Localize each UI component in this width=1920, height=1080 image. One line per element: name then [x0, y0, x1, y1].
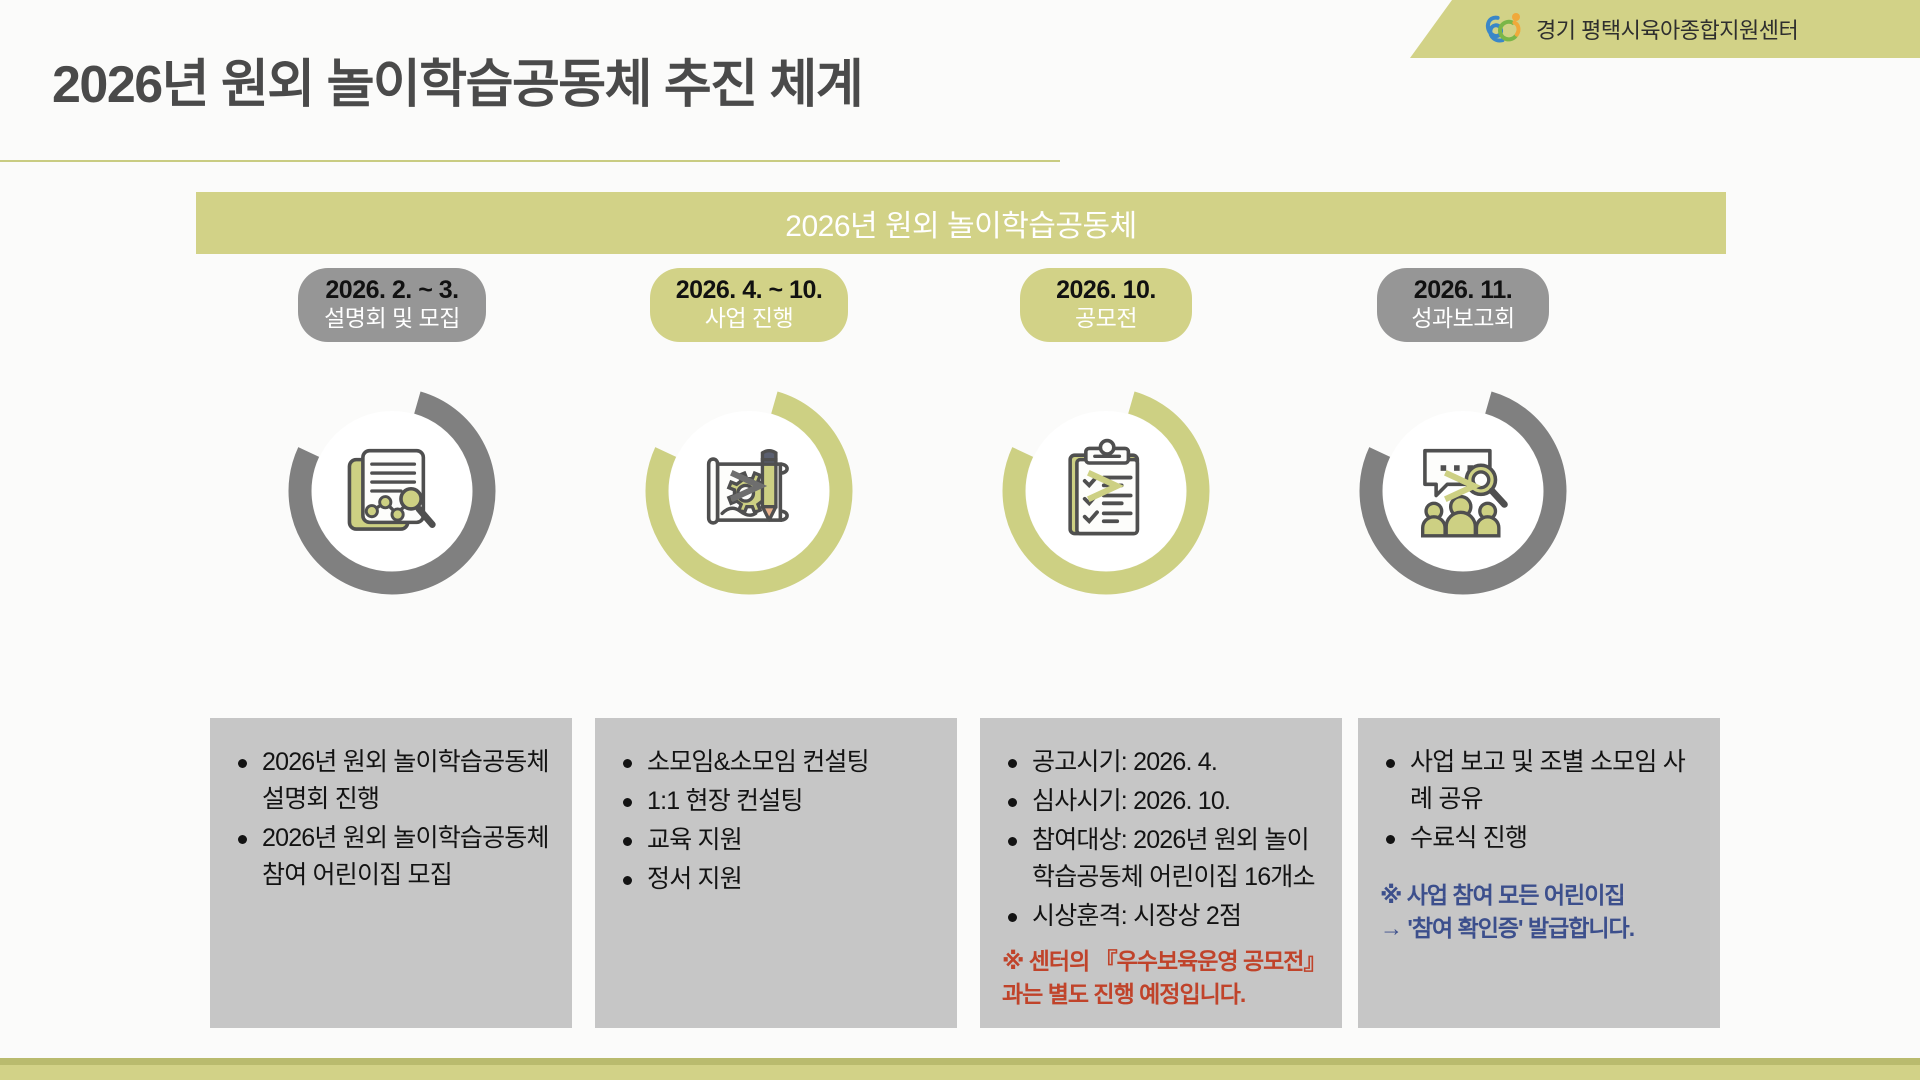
chevron-right-arrow-icon-3: [1440, 464, 1506, 508]
detail-list-3: 공고시기: 2026. 4. 심사시기: 2026. 10. 참여대상: 202…: [1002, 744, 1320, 935]
stage-column-4: 2026. 11. 성과보고회: [1293, 268, 1633, 604]
stage-column-3: 2026. 10. 공모전: [936, 268, 1276, 604]
stage-date-1: 2026. 2. ~ 3.: [324, 276, 460, 305]
chevron-right-arrow-icon-2: [1083, 464, 1149, 508]
detail-box-3: 공고시기: 2026. 4. 심사시기: 2026. 10. 참여대상: 202…: [980, 718, 1342, 1028]
detail-note-3: ※ 센터의 『우수보육운영 공모전』과는 별도 진행 예정입니다.: [1002, 945, 1320, 1010]
detail-list-4: 사업 보고 및 조별 소모임 사례 공유 수료식 진행: [1380, 744, 1698, 857]
list-item: 시상훈격: 시장상 2점: [1002, 898, 1320, 935]
stage-pill-2: 2026. 4. ~ 10. 사업 진행: [650, 268, 849, 342]
footer-bar: [0, 1058, 1920, 1080]
list-item: 심사시기: 2026. 10.: [1002, 783, 1320, 820]
stage-label-4: 성과보고회: [1403, 305, 1523, 333]
detail-box-row: 2026년 원외 놀이학습공동체 설명회 진행 2026년 원외 놀이학습공동체…: [210, 718, 1720, 1028]
list-item: 정서 지원: [617, 861, 935, 898]
stage-pill-1: 2026. 2. ~ 3. 설명회 및 모집: [298, 268, 486, 342]
program-banner: 2026년 원외 놀이학습공동체: [196, 192, 1726, 254]
stage-date-3: 2026. 10.: [1046, 276, 1166, 305]
detail-box-1: 2026년 원외 놀이학습공동체 설명회 진행 2026년 원외 놀이학습공동체…: [210, 718, 572, 1028]
stage-pill-3: 2026. 10. 공모전: [1020, 268, 1192, 342]
detail-note-4: ※ 사업 참여 모든 어린이집→ '참여 확인증' 발급합니다.: [1380, 879, 1698, 944]
detail-list-1: 2026년 원외 놀이학습공동체 설명회 진행 2026년 원외 놀이학습공동체…: [232, 744, 550, 894]
detail-box-2: 소모임&소모임 컨설팅 1:1 현장 컨설팅 교육 지원 정서 지원: [595, 718, 957, 1028]
stage-label-3: 공모전: [1046, 305, 1166, 333]
title-divider: [0, 160, 1060, 162]
list-item: 사업 보고 및 조별 소모임 사례 공유: [1380, 744, 1698, 818]
stage-date-4: 2026. 11.: [1403, 276, 1523, 305]
document-chart-magnifier-icon: [336, 435, 448, 547]
slide-root: 경기 평택시육아종합지원센터 2026년 원외 놀이학습공동체 추진 체계 20…: [0, 0, 1920, 1080]
stage-row: 2026. 2. ~ 3. 설명회 및 모집: [196, 268, 1726, 678]
list-item: 공고시기: 2026. 4.: [1002, 744, 1320, 781]
detail-box-4: 사업 보고 및 조별 소모임 사례 공유 수료식 진행 ※ 사업 참여 모든 어…: [1358, 718, 1720, 1028]
sc-swirl-logo-icon: [1480, 9, 1528, 49]
list-item: 참여대상: 2026년 원외 놀이학습공동체 어린이집 16개소: [1002, 822, 1320, 896]
list-item: 소모임&소모임 컨설팅: [617, 744, 935, 781]
stage-date-2: 2026. 4. ~ 10.: [676, 276, 823, 305]
list-item: 1:1 현장 컨설팅: [617, 783, 935, 820]
stage-ring-1: [279, 378, 505, 604]
stage-label-2: 사업 진행: [676, 305, 823, 333]
org-name-label: 경기 평택시육아종합지원센터: [1536, 13, 1798, 45]
stage-label-1: 설명회 및 모집: [324, 305, 460, 333]
list-item: 교육 지원: [617, 822, 935, 859]
list-item: 2026년 원외 놀이학습공동체 설명회 진행: [232, 744, 550, 818]
program-banner-label: 2026년 원외 놀이학습공동체: [785, 201, 1136, 245]
stage-pill-4: 2026. 11. 성과보고회: [1377, 268, 1549, 342]
page-title: 2026년 원외 놀이학습공동체 추진 체계: [52, 42, 862, 117]
stage-column-2: 2026. 4. ~ 10. 사업 진행: [579, 268, 919, 604]
chevron-right-arrow-icon-1: [726, 464, 792, 508]
stage-column-1: 2026. 2. ~ 3. 설명회 및 모집: [222, 268, 562, 604]
list-item: 2026년 원외 놀이학습공동체 참여 어린이집 모집: [232, 820, 550, 894]
detail-list-2: 소모임&소모임 컨설팅 1:1 현장 컨설팅 교육 지원 정서 지원: [617, 744, 935, 898]
list-item: 수료식 진행: [1380, 820, 1698, 857]
org-logo-banner: 경기 평택시육아종합지원센터: [1410, 0, 1920, 58]
